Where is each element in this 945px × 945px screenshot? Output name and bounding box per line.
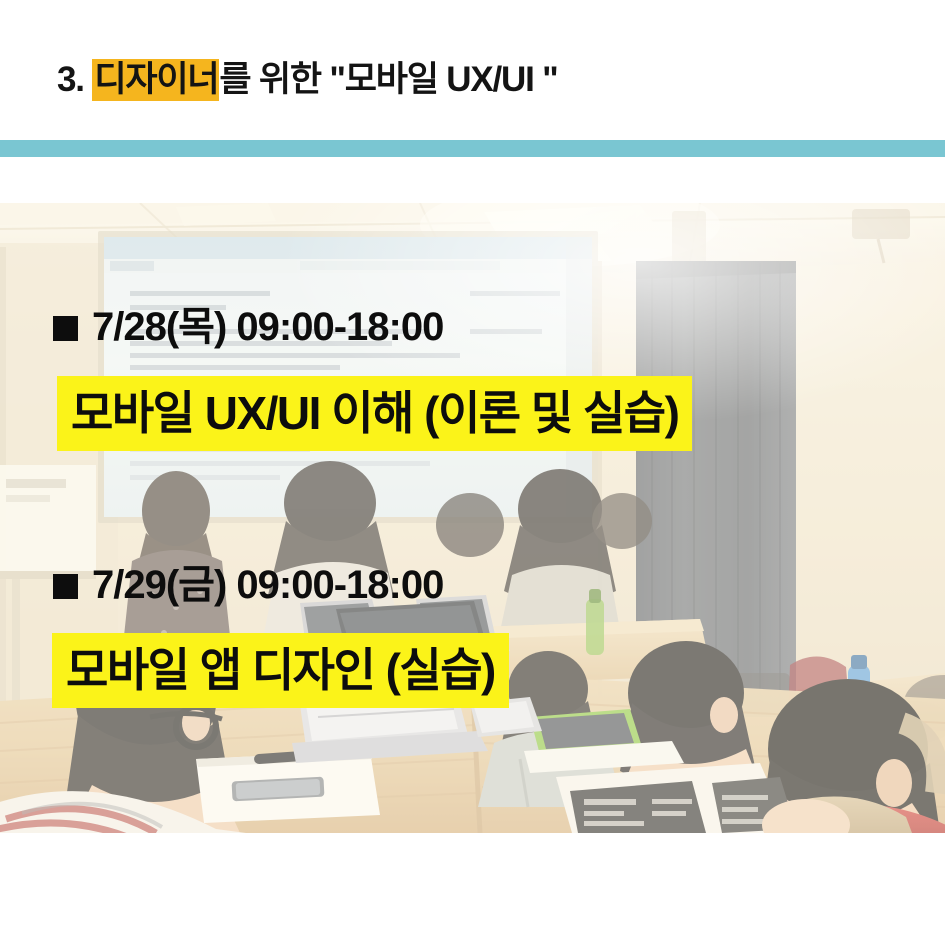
bullet-square-icon [53, 316, 78, 341]
page-title: 3. 디자이너를 위한 "모바일 UX/UI " [57, 58, 558, 102]
schedule-date-text-2: 7/29(금) 09:00-18:00 [92, 563, 443, 607]
title-highlight: 디자이너 [92, 59, 219, 101]
slide-header: 3. 디자이너를 위한 "모바일 UX/UI " [0, 0, 945, 140]
session-title-1: 모바일 UX/UI 이해 (이론 및 실습) [57, 376, 692, 451]
schedule-date-line-2: 7/29(금) 09:00-18:00 [53, 561, 443, 609]
teal-divider [0, 140, 945, 157]
session-title-2: 모바일 앱 디자인 (실습) [52, 633, 509, 708]
slide-page: 3. 디자이너를 위한 "모바일 UX/UI " [0, 0, 945, 945]
bullet-square-icon [53, 574, 78, 599]
classroom-photo [0, 203, 945, 833]
classroom-photo-graphic [0, 203, 945, 833]
title-rest: 를 위한 "모바일 UX/UI " [219, 60, 557, 99]
title-number: 3. [57, 60, 84, 99]
schedule-date-line-1: 7/28(목) 09:00-18:00 [53, 303, 443, 351]
schedule-date-text-1: 7/28(목) 09:00-18:00 [92, 305, 443, 349]
